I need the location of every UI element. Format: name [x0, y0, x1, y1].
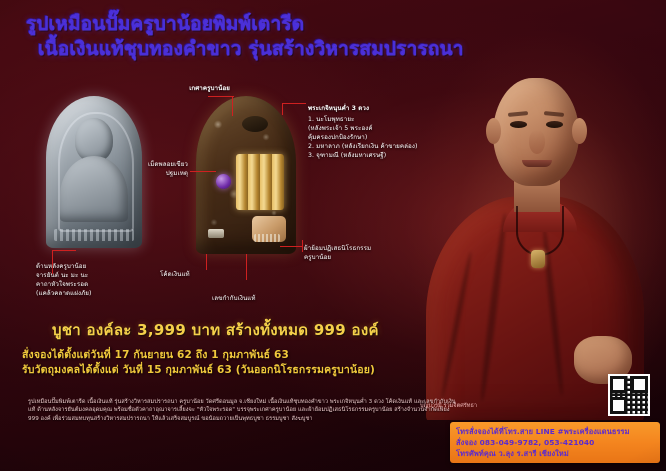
leader-line-gem	[190, 171, 216, 172]
qr-code-pattern	[610, 376, 648, 414]
contact-line-extra: โทรศัพท์คุณ ว.ลุง ร.สารี เชียงใหม่	[456, 448, 654, 459]
amulet-back-gem	[216, 174, 231, 189]
monk-amulet-cord	[516, 206, 564, 256]
order-period-line: สั่งจองได้ตั้งแต่วันที่ 17 กันยายน 62 ถึ…	[22, 348, 442, 363]
leader-line-back-engrave-h	[52, 250, 76, 251]
qr-finder-top-right	[631, 376, 648, 393]
annotation-charms-list: 1. นะโมพุทธายะ (หลังพระเจ้า 5 พระองค์ คุ…	[308, 115, 458, 160]
annotation-silver-code: โค้ดเงินแท้	[160, 270, 222, 279]
contact-line-line-id: โทรสั่งจองได้ที่โทร.สาย LINE #พระเครื่อง…	[456, 426, 654, 437]
leader-line-cloth	[280, 246, 302, 247]
annotation-charms-title: พระเกจิหนุนค่ำ 3 ดวง	[308, 104, 448, 113]
monk-ear-right	[572, 118, 587, 144]
pickup-date-line: รับวัตถุมงคลได้ตั้งแต่ วันที่ 15 กุมภาพั…	[22, 363, 442, 378]
page-title: รูปเหมือนปั๊มครูบาน้อยพิมพ์เตารีด เนื้อเ…	[26, 12, 486, 62]
contact-info-box[interactable]: โทรสั่งจองได้ที่โทร.สาย LINE #พระเครื่อง…	[450, 422, 660, 463]
price-line: บูชา องค์ละ 3,999 บาท สร้างทั้งหมด 999 อ…	[52, 318, 379, 342]
amulet-back-serial-number	[254, 234, 280, 242]
monk-nose	[529, 130, 545, 154]
leader-line-charms-v	[282, 103, 283, 115]
headline-line-1: รูปเหมือนปั๊มครูบาน้อยพิมพ์เตารีด	[26, 12, 486, 37]
annotation-kesa: เกศาครูบาน้อย	[146, 84, 230, 93]
contact-line-phone: สั่งจอง 083-049-9782, 053-421040	[456, 437, 654, 448]
annotation-serial-number: เลขกำกับเงินแท้	[212, 294, 292, 303]
corner-note: บุญบารมี รวมจิตศรัทธา	[420, 402, 510, 410]
monk-ear-left	[486, 118, 501, 144]
monk-amulet-pendant	[531, 250, 545, 268]
leader-line-code	[206, 254, 207, 270]
amulet-front-base-inscription	[54, 229, 134, 241]
headline-line-2: เนื้อเงินแท้ชุบทองคำขาว รุ่นสร้างวิหารสม…	[38, 37, 486, 62]
leader-line-kesa-h	[208, 96, 234, 97]
annotation-gem: เม็ดพลอยเขียว ปฐมเหตุ	[118, 160, 188, 178]
annotation-cloth-relic: ผ้าย้อมปฏิเสธนิโรธกรรม ครูบาน้อย	[304, 244, 420, 262]
monk-eye-left	[510, 121, 527, 128]
amulet-back-gold-takrut	[236, 154, 284, 210]
qr-finder-bottom-left	[610, 397, 627, 414]
amulet-back-hair-relic	[242, 116, 268, 132]
amulet-back-silver-code	[208, 229, 224, 238]
qr-finder-top-left	[610, 376, 627, 393]
leader-line-cloth-v	[302, 240, 303, 252]
description-paragraph: รูปเหมือนปั๊มพิมพ์เตารีด เนื้อเงินแท้ รุ…	[28, 398, 458, 423]
order-info-block: สั่งจองได้ตั้งแต่วันที่ 17 กันยายน 62 ถึ…	[22, 348, 442, 378]
leader-line-kesa	[232, 96, 233, 116]
leader-line-charms	[282, 103, 306, 104]
monk-eye-right	[546, 121, 563, 128]
monk-mouth	[522, 160, 552, 167]
qr-code-icon[interactable]	[608, 374, 650, 416]
annotation-back-engraving: ด้านหลังครูบาน้อย จารยันต์ นะ มะ นะ คาถา…	[36, 262, 132, 298]
amulet-advertisement-poster: รูปเหมือนปั๊มครูบาน้อยพิมพ์เตารีด เนื้อเ…	[0, 0, 666, 471]
amulet-back-image	[196, 96, 296, 254]
leader-line-number	[246, 254, 247, 280]
